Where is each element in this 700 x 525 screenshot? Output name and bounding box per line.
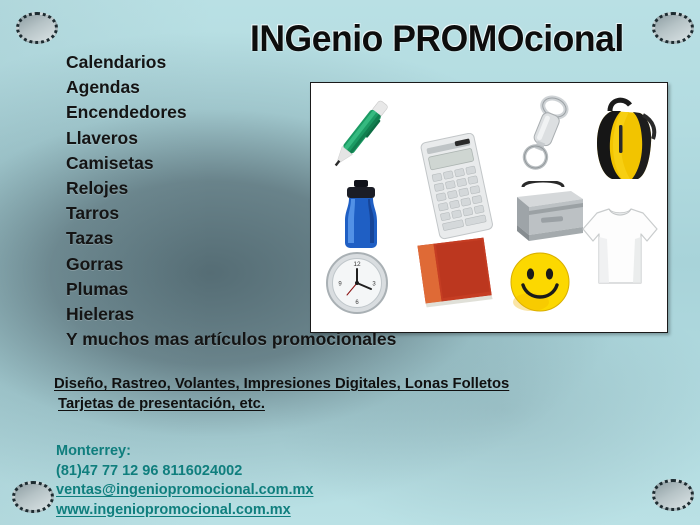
contact-city: Monterrey: [56,442,313,462]
green-pen-icon [321,91,399,179]
metal-keychain-icon [519,95,581,179]
white-tshirt-icon [579,203,661,289]
wall-clock-icon: 12 3 6 9 [325,251,389,315]
decorative-ellipse-bottom-left [12,481,54,513]
yellow-black-backpack-icon [588,95,662,187]
silver-calculator-icon [416,133,498,241]
contact-phones: (81)47 77 12 96 8116024002 [56,462,313,482]
yellow-smiley-ball-icon [509,251,571,313]
decorative-ellipse-bottom-right [652,479,694,511]
svg-text:12: 12 [353,261,361,268]
contact-block: Monterrey: (81)47 77 12 96 8116024002 ve… [56,442,313,520]
services-text: Diseño, Rastreo, Volantes, Impresiones D… [54,374,509,414]
services-line-1: Diseño, Rastreo, Volantes, Impresiones D… [54,374,509,394]
product-photo-panel: 12 3 6 9 [310,82,668,333]
red-notebook-icon [411,231,503,313]
contact-website-link[interactable]: www.ingeniopromocional.com.mx [56,501,313,521]
decorative-ellipse-top-left [16,12,58,44]
list-item: Calendarios [66,50,396,75]
contact-email-link[interactable]: ventas@ingeniopromocional.com.mx [56,481,313,501]
services-line-2: Tarjetas de presentación, etc. [54,394,509,414]
blue-sport-bottle-icon [339,179,383,251]
grey-cooler-bag-icon [511,181,587,247]
promotional-poster: INGenio PROMOcional Calendarios Agendas … [0,0,700,525]
decorative-ellipse-top-right [652,12,694,44]
